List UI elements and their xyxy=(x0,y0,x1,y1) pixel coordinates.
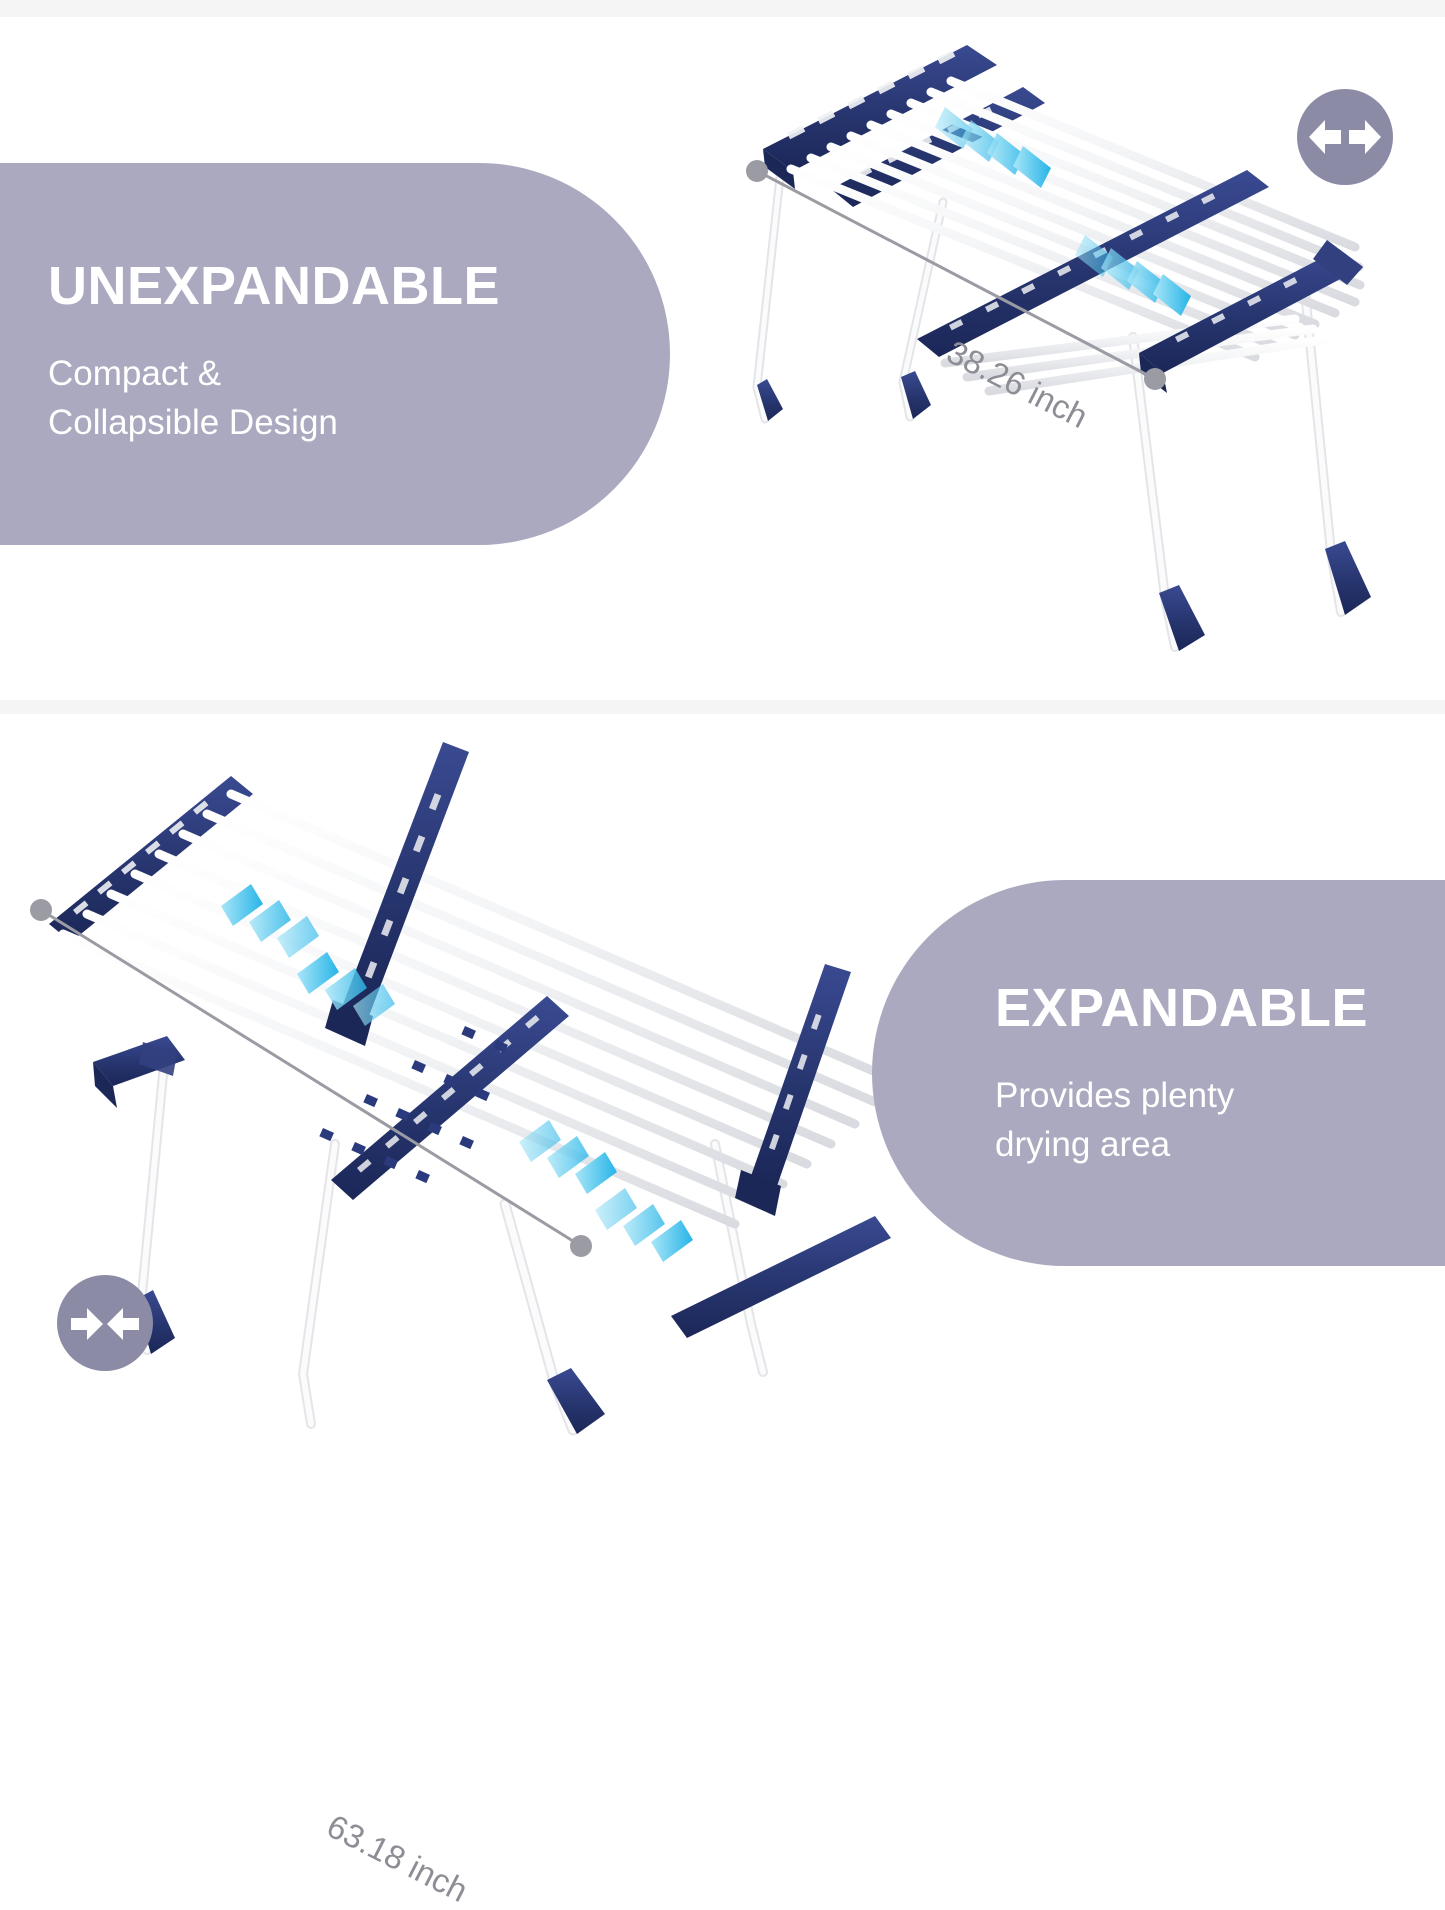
panel-subtitle-unexpandable: Compact & Collapsible Design xyxy=(48,349,670,448)
panel-title-expandable: EXPANDABLE xyxy=(995,980,1445,1037)
collapsed-drying-rack-illustration xyxy=(735,37,1375,697)
panel-subtitle-line-1: Compact & xyxy=(48,349,670,399)
section-unexpandable: 38.26 inch UNEXPANDABLE Compact & Collap… xyxy=(0,17,1445,700)
section-expandable: 63.18 inch EXPANDABLE Provides plenty dr… xyxy=(0,714,1445,1441)
panel-subtitle-expandable: Provides plenty drying area xyxy=(995,1071,1445,1170)
rack-left-wing-clip xyxy=(93,1036,185,1108)
panel-subtitle-line-2: Collapsible Design xyxy=(48,398,670,448)
rack-rods-top xyxy=(791,81,1360,357)
rack-right-wing-arm xyxy=(735,964,851,1216)
infographic-canvas: 38.26 inch UNEXPANDABLE Compact & Collap… xyxy=(0,0,1445,1441)
panel-unexpandable: UNEXPANDABLE Compact & Collapsible Desig… xyxy=(0,163,670,545)
section-divider-band xyxy=(0,700,1445,714)
dimension-label-expanded: 63.18 inch xyxy=(321,1807,474,1910)
expand-arrows-icon xyxy=(1297,89,1393,185)
panel-expandable: EXPANDABLE Provides plenty drying area xyxy=(872,880,1445,1266)
expanded-drying-rack-illustration xyxy=(35,724,895,1434)
rack-front-bar xyxy=(671,1216,891,1338)
panel-subtitle-line-2: drying area xyxy=(995,1120,1445,1170)
panel-subtitle-line-1: Provides plenty xyxy=(995,1071,1445,1121)
panel-title-unexpandable: UNEXPANDABLE xyxy=(48,258,670,315)
rack-left-rail xyxy=(49,776,253,942)
collapse-arrows-icon xyxy=(57,1275,153,1371)
top-edge-band xyxy=(0,0,1445,17)
